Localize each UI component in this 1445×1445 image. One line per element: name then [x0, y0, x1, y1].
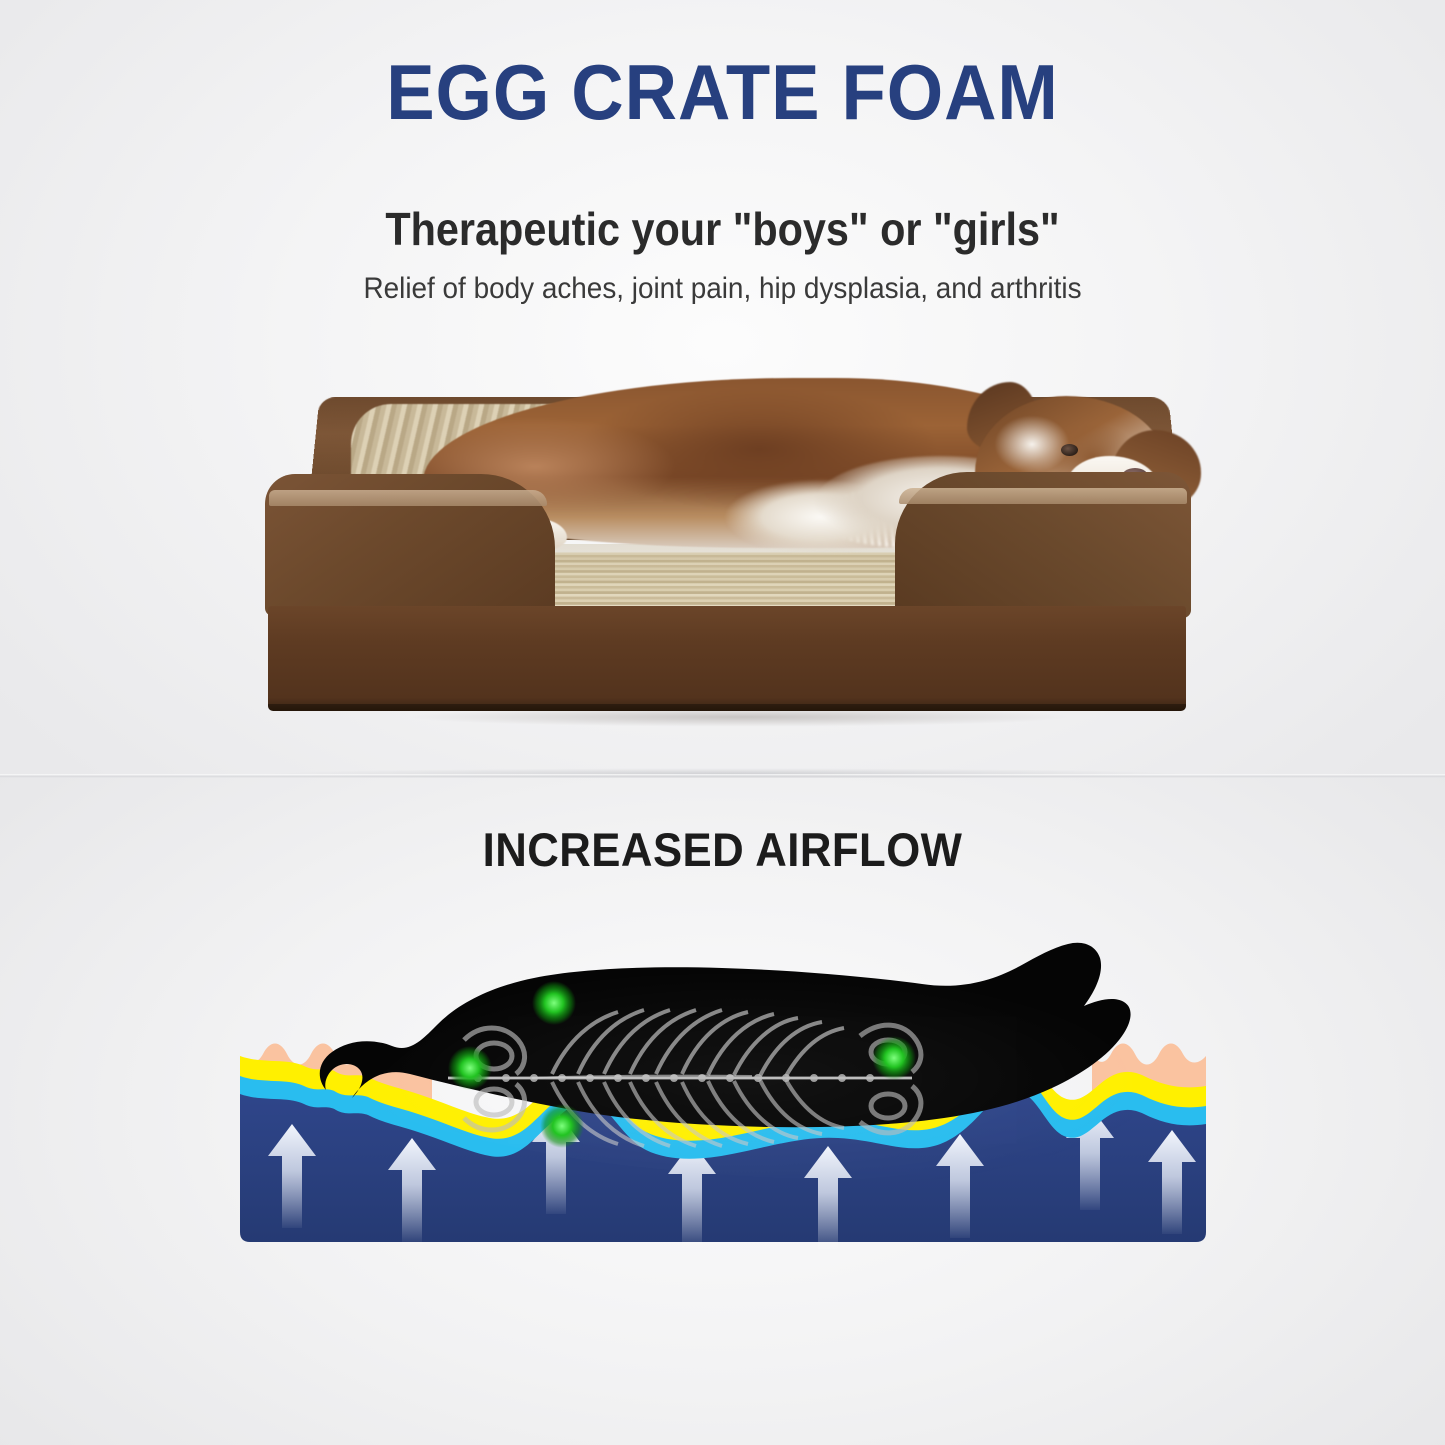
bed-left-bolster-piping [269, 490, 547, 506]
bed-right-bolster-piping [899, 488, 1187, 504]
dog-eye [1061, 444, 1078, 456]
product-infographic: EGG CRATE FOAM Therapeutic your "boys" o… [0, 0, 1445, 1445]
bed-foam-base [268, 606, 1186, 710]
pressure-point [872, 1036, 916, 1080]
benefit-description: Relief of body aches, joint pain, hip dy… [51, 272, 1395, 306]
airflow-diagram [232, 928, 1212, 1250]
bed-base-bottom-edge [268, 704, 1186, 711]
product-photo [255, 368, 1215, 738]
pressure-point [540, 1104, 584, 1148]
page-title: EGG CRATE FOAM [51, 47, 1395, 138]
airflow-section-title: INCREASED AIRFLOW [51, 822, 1395, 877]
pressure-point [532, 981, 576, 1025]
pressure-point [448, 1046, 492, 1090]
subheading: Therapeutic your "boys" or "girls" [72, 202, 1373, 256]
